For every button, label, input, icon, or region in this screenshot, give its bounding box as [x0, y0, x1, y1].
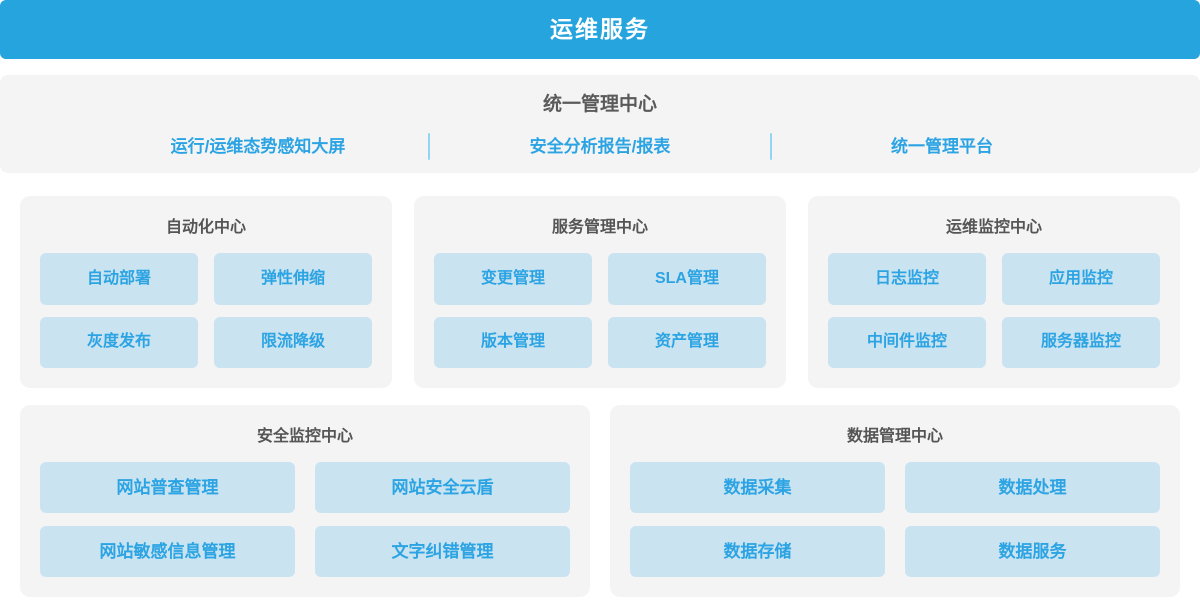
tile-grid-automation-center: 自动部署 弹性伸缩 灰度发布 限流降级: [40, 253, 372, 368]
tile-sla-management[interactable]: SLA管理: [608, 253, 766, 305]
tile-application-monitoring[interactable]: 应用监控: [1002, 253, 1160, 305]
middle-card-row: 自动化中心 自动部署 弹性伸缩 灰度发布 限流降级 服务管理中心 变更管理 SL…: [20, 196, 1180, 388]
tile-text-proofreading-management[interactable]: 文字纠错管理: [315, 526, 570, 577]
card-data-management-center: 数据管理中心 数据采集 数据处理 数据存储 数据服务: [610, 405, 1180, 597]
card-title-security-monitoring-center: 安全监控中心: [40, 429, 570, 445]
tile-grid-security-monitoring-center: 网站普查管理 网站安全云盾 网站敏感信息管理 文字纠错管理: [40, 462, 570, 577]
ops-service-architecture-diagram: 运维服务 统一管理中心 运行/运维态势感知大屏 安全分析报告/报表 统一管理平台…: [0, 0, 1200, 602]
tile-version-management[interactable]: 版本管理: [434, 317, 592, 369]
tile-website-census-management[interactable]: 网站普查管理: [40, 462, 295, 513]
page-header: 运维服务: [0, 0, 1200, 59]
tile-server-monitoring[interactable]: 服务器监控: [1002, 317, 1160, 369]
mgmt-link-security-report[interactable]: 安全分析报告/报表: [430, 138, 770, 155]
unified-management-center-panel: 统一管理中心 运行/运维态势感知大屏 安全分析报告/报表 统一管理平台: [0, 75, 1200, 173]
tile-gray-release[interactable]: 灰度发布: [40, 317, 198, 369]
bottom-card-row: 安全监控中心 网站普查管理 网站安全云盾 网站敏感信息管理 文字纠错管理 数据管…: [20, 405, 1180, 597]
page-title: 运维服务: [550, 18, 650, 41]
unified-management-center-title: 统一管理中心: [543, 95, 657, 114]
card-title-automation-center: 自动化中心: [40, 220, 372, 236]
tile-change-management[interactable]: 变更管理: [434, 253, 592, 305]
tile-data-collection[interactable]: 数据采集: [630, 462, 885, 513]
card-service-management-center: 服务管理中心 变更管理 SLA管理 版本管理 资产管理: [414, 196, 786, 388]
unified-management-center-links: 运行/运维态势感知大屏 安全分析报告/报表 统一管理平台: [0, 135, 1200, 157]
tile-data-service[interactable]: 数据服务: [905, 526, 1160, 577]
tile-log-monitoring[interactable]: 日志监控: [828, 253, 986, 305]
mgmt-link-management-platform[interactable]: 统一管理平台: [772, 138, 1112, 155]
tile-elastic-scaling[interactable]: 弹性伸缩: [214, 253, 372, 305]
tile-middleware-monitoring[interactable]: 中间件监控: [828, 317, 986, 369]
tile-rate-limit-degrade[interactable]: 限流降级: [214, 317, 372, 369]
card-security-monitoring-center: 安全监控中心 网站普查管理 网站安全云盾 网站敏感信息管理 文字纠错管理: [20, 405, 590, 597]
tile-grid-data-management-center: 数据采集 数据处理 数据存储 数据服务: [630, 462, 1160, 577]
tile-data-storage[interactable]: 数据存储: [630, 526, 885, 577]
card-title-service-management-center: 服务管理中心: [434, 220, 766, 236]
card-ops-monitoring-center: 运维监控中心 日志监控 应用监控 中间件监控 服务器监控: [808, 196, 1180, 388]
tile-website-sensitive-info-management[interactable]: 网站敏感信息管理: [40, 526, 295, 577]
tile-grid-ops-monitoring-center: 日志监控 应用监控 中间件监控 服务器监控: [828, 253, 1160, 368]
tile-asset-management[interactable]: 资产管理: [608, 317, 766, 369]
card-title-data-management-center: 数据管理中心: [630, 429, 1160, 445]
mgmt-link-situation-dashboard[interactable]: 运行/运维态势感知大屏: [88, 138, 428, 155]
tile-data-processing[interactable]: 数据处理: [905, 462, 1160, 513]
card-automation-center: 自动化中心 自动部署 弹性伸缩 灰度发布 限流降级: [20, 196, 392, 388]
card-title-ops-monitoring-center: 运维监控中心: [828, 220, 1160, 236]
tile-auto-deploy[interactable]: 自动部署: [40, 253, 198, 305]
tile-website-security-cloud-shield[interactable]: 网站安全云盾: [315, 462, 570, 513]
tile-grid-service-management-center: 变更管理 SLA管理 版本管理 资产管理: [434, 253, 766, 368]
